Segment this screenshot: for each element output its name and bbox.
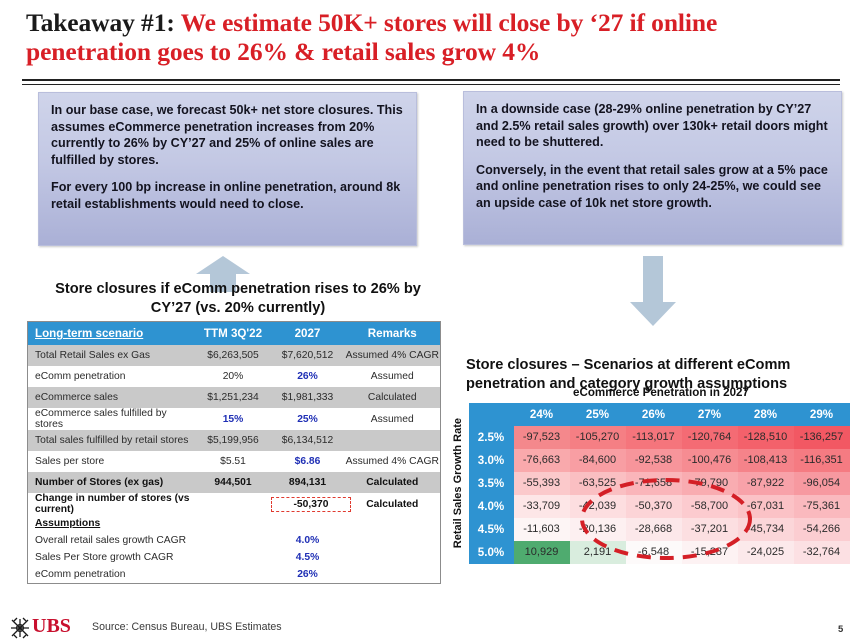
heatmap-cell: -79,790 <box>682 472 738 495</box>
cell-ttm <box>196 493 271 515</box>
table-row: eCommerce sales fulfilled by stores15%25… <box>28 408 441 430</box>
assumptions-header-row: Assumptions <box>28 515 441 532</box>
heatmap-cell: 10,929 <box>514 541 570 564</box>
callout-downside-upside-case: In a downside case (28-29% online penetr… <box>463 91 842 245</box>
heatmap-cell: -76,663 <box>514 449 570 472</box>
table-row: eCommerce sales$1,251,234$1,981,333Calcu… <box>28 387 441 408</box>
cell-2027: $6.86 <box>271 451 345 472</box>
cell-remarks: Calculated <box>345 387 441 408</box>
heatmap-cell: -55,393 <box>514 472 570 495</box>
cell-remarks: Assumed 4% CAGR <box>345 345 441 366</box>
heatmap-cell: -136,257 <box>794 426 850 449</box>
heatmap-row-header: 4.5% <box>469 518 514 541</box>
col-header-remarks: Remarks <box>345 322 441 346</box>
col-header-ttm: TTM 3Q'22 <box>196 322 271 346</box>
heatmap-cell: -63,525 <box>570 472 626 495</box>
callout-left-para-1: In our base case, we forecast 50k+ net s… <box>51 102 406 168</box>
heatmap-row: 2.5%-97,523-105,270-113,017-120,764-128,… <box>469 426 850 449</box>
heatmap-cell: -96,054 <box>794 472 850 495</box>
assumption-spacer <box>345 532 441 549</box>
title-divider-top <box>22 79 840 81</box>
cell-remarks: Calculated <box>345 493 441 515</box>
assumption-value: 4.0% <box>271 532 345 549</box>
heatmap-row-header: 3.0% <box>469 449 514 472</box>
heatmap-cell: 2,191 <box>570 541 626 564</box>
callout-right-para-1: In a downside case (28-29% online penetr… <box>476 101 831 151</box>
cell-remarks: Assumed <box>345 366 441 387</box>
heatmap-cell: -45,734 <box>738 518 794 541</box>
cell-remarks: Calculated <box>345 472 441 493</box>
heatmap-cell: -50,370 <box>626 495 682 518</box>
highlighted-value: -50,370 <box>271 497 352 512</box>
heatmap-corner-cell <box>469 403 514 426</box>
heatmap-row: 3.0%-76,663-84,600-92,538-100,476-108,41… <box>469 449 850 472</box>
heatmap-cell: -105,270 <box>570 426 626 449</box>
cell-2027: 25% <box>271 408 345 430</box>
table-row: Sales per store$5.51$6.86Assumed 4% CAGR <box>28 451 441 472</box>
cell-2027: -50,370 <box>271 493 345 515</box>
heatmap-cell: -37,201 <box>682 518 738 541</box>
heatmap-row-header: 3.5% <box>469 472 514 495</box>
heatmap-col-header: 29% <box>794 403 850 426</box>
heatmap-cell: -87,922 <box>738 472 794 495</box>
heatmap-row-header: 2.5% <box>469 426 514 449</box>
heatmap-cell: -84,600 <box>570 449 626 472</box>
col-header-scenario: Long-term scenario <box>28 322 196 346</box>
heatmap-row: 5.0%10,9292,191-6,548-15,287-24,025-32,7… <box>469 541 850 564</box>
heatmap-col-header: 26% <box>626 403 682 426</box>
cell-label: Sales per store <box>28 451 196 472</box>
heatmap-cell: -24,025 <box>738 541 794 564</box>
assumption-spacer <box>345 549 441 566</box>
heatmap-row: 4.5%-11,603-20,136-28,668-37,201-45,734-… <box>469 518 850 541</box>
heatmap-cell: -6,548 <box>626 541 682 564</box>
cell-remarks <box>345 430 441 451</box>
cell-ttm: $5.51 <box>196 451 271 472</box>
heatmap-table: 24%25%26%27%28%29% 2.5%-97,523-105,270-1… <box>468 402 850 564</box>
cell-ttm: $5,199,956 <box>196 430 271 451</box>
table-row: Change in number of stores (vs current)-… <box>28 493 441 515</box>
cell-label: Number of Stores (ex gas) <box>28 472 196 493</box>
heatmap-row-header: 5.0% <box>469 541 514 564</box>
heatmap-header-row: 24%25%26%27%28%29% <box>469 403 850 426</box>
cell-remarks: Assumed <box>345 408 441 430</box>
table-row: eComm penetration20%26%Assumed <box>28 366 441 387</box>
heatmap-cell: -32,764 <box>794 541 850 564</box>
assumption-label: eComm penetration <box>28 566 271 584</box>
heatmap-cell: -128,510 <box>738 426 794 449</box>
assumption-value: 4.5% <box>271 549 345 566</box>
assumption-spacer <box>345 566 441 584</box>
cell-label: Assumptions <box>28 515 441 532</box>
heatmap-col-header: 25% <box>570 403 626 426</box>
heatmap-y-axis-label: Retail Sales Growth Rate <box>448 402 468 564</box>
title-lead: Takeaway #1: <box>26 8 175 37</box>
ubs-wordmark: UBS <box>32 615 71 638</box>
arrow-down-icon <box>630 256 676 326</box>
heatmap-wrapper: eCommerce Penetration in 2027 Retail Sal… <box>448 386 852 564</box>
cell-2027: 26% <box>271 366 345 387</box>
heatmap-cell: -28,668 <box>626 518 682 541</box>
heatmap-cell: -42,039 <box>570 495 626 518</box>
heatmap-cell: -15,287 <box>682 541 738 564</box>
heatmap-cell: -54,266 <box>794 518 850 541</box>
heatmap-row: 3.5%-55,393-63,525-71,658-79,790-87,922-… <box>469 472 850 495</box>
scenario-table: Long-term scenario TTM 3Q'22 2027 Remark… <box>27 321 441 584</box>
left-table-title: Store closures if eComm penetration rise… <box>38 280 438 318</box>
assumption-label: Overall retail sales growth CAGR <box>28 532 271 549</box>
cell-ttm: 15% <box>196 408 271 430</box>
heatmap-col-header: 28% <box>738 403 794 426</box>
heatmap-y-axis-label-text: Retail Sales Growth Rate <box>452 418 464 548</box>
assumption-value: 26% <box>271 566 345 584</box>
heatmap-cell: -67,031 <box>738 495 794 518</box>
cell-label: eCommerce sales <box>28 387 196 408</box>
heatmap-cell: -116,351 <box>794 449 850 472</box>
source-note: Source: Census Bureau, UBS Estimates <box>92 621 282 633</box>
heatmap-row-header: 4.0% <box>469 495 514 518</box>
cell-ttm: $1,251,234 <box>196 387 271 408</box>
callout-left-para-2: For every 100 bp increase in online pene… <box>51 179 406 212</box>
cell-label: eComm penetration <box>28 366 196 387</box>
cell-ttm: $6,263,505 <box>196 345 271 366</box>
table-row: Number of Stores (ex gas)944,501894,131C… <box>28 472 441 493</box>
heatmap-cell: -11,603 <box>514 518 570 541</box>
cell-ttm: 20% <box>196 366 271 387</box>
callout-base-case: In our base case, we forecast 50k+ net s… <box>38 92 417 246</box>
assumption-label: Sales Per Store growth CAGR <box>28 549 271 566</box>
cell-label: eCommerce sales fulfilled by stores <box>28 408 196 430</box>
cell-label: Total Retail Sales ex Gas <box>28 345 196 366</box>
callout-right-para-2: Conversely, in the event that retail sal… <box>476 162 831 212</box>
table-row: Total Retail Sales ex Gas$6,263,505$7,62… <box>28 345 441 366</box>
cell-2027: $7,620,512 <box>271 345 345 366</box>
heatmap-cell: -71,658 <box>626 472 682 495</box>
heatmap-row: 4.0%-33,709-42,039-50,370-58,700-67,031-… <box>469 495 850 518</box>
col-header-2027: 2027 <box>271 322 345 346</box>
heatmap-supertitle: eCommerce Penetration in 2027 <box>470 386 852 399</box>
page-number: 5 <box>838 624 843 635</box>
slide-root: Takeaway #1: We estimate 50K+ stores wil… <box>0 0 857 641</box>
table-header-row: Long-term scenario TTM 3Q'22 2027 Remark… <box>28 322 441 346</box>
assumptions-heading: Assumptions <box>35 518 100 529</box>
heatmap-cell: -113,017 <box>626 426 682 449</box>
page-title: Takeaway #1: We estimate 50K+ stores wil… <box>26 8 838 66</box>
cell-label: Change in number of stores (vs current) <box>28 493 196 515</box>
cell-ttm: 944,501 <box>196 472 271 493</box>
title-divider-bottom <box>22 84 840 85</box>
cell-2027: 894,131 <box>271 472 345 493</box>
heatmap-cell: -58,700 <box>682 495 738 518</box>
cell-label: Total sales fulfilled by retail stores <box>28 430 196 451</box>
assumption-row: Overall retail sales growth CAGR4.0% <box>28 532 441 549</box>
heatmap-cell: -100,476 <box>682 449 738 472</box>
assumption-row: Sales Per Store growth CAGR4.5% <box>28 549 441 566</box>
heatmap-cell: -33,709 <box>514 495 570 518</box>
heatmap-cell: -75,361 <box>794 495 850 518</box>
heatmap-cell: -92,538 <box>626 449 682 472</box>
cell-remarks: Assumed 4% CAGR <box>345 451 441 472</box>
cell-2027: $6,134,512 <box>271 430 345 451</box>
heatmap-col-header: 24% <box>514 403 570 426</box>
heatmap-cell: -20,136 <box>570 518 626 541</box>
cell-2027: $1,981,333 <box>271 387 345 408</box>
assumption-row: eComm penetration26% <box>28 566 441 584</box>
table-row: Total sales fulfilled by retail stores$5… <box>28 430 441 451</box>
heatmap-col-header: 27% <box>682 403 738 426</box>
heatmap-cell: -97,523 <box>514 426 570 449</box>
heatmap-cell: -120,764 <box>682 426 738 449</box>
heatmap-cell: -108,413 <box>738 449 794 472</box>
